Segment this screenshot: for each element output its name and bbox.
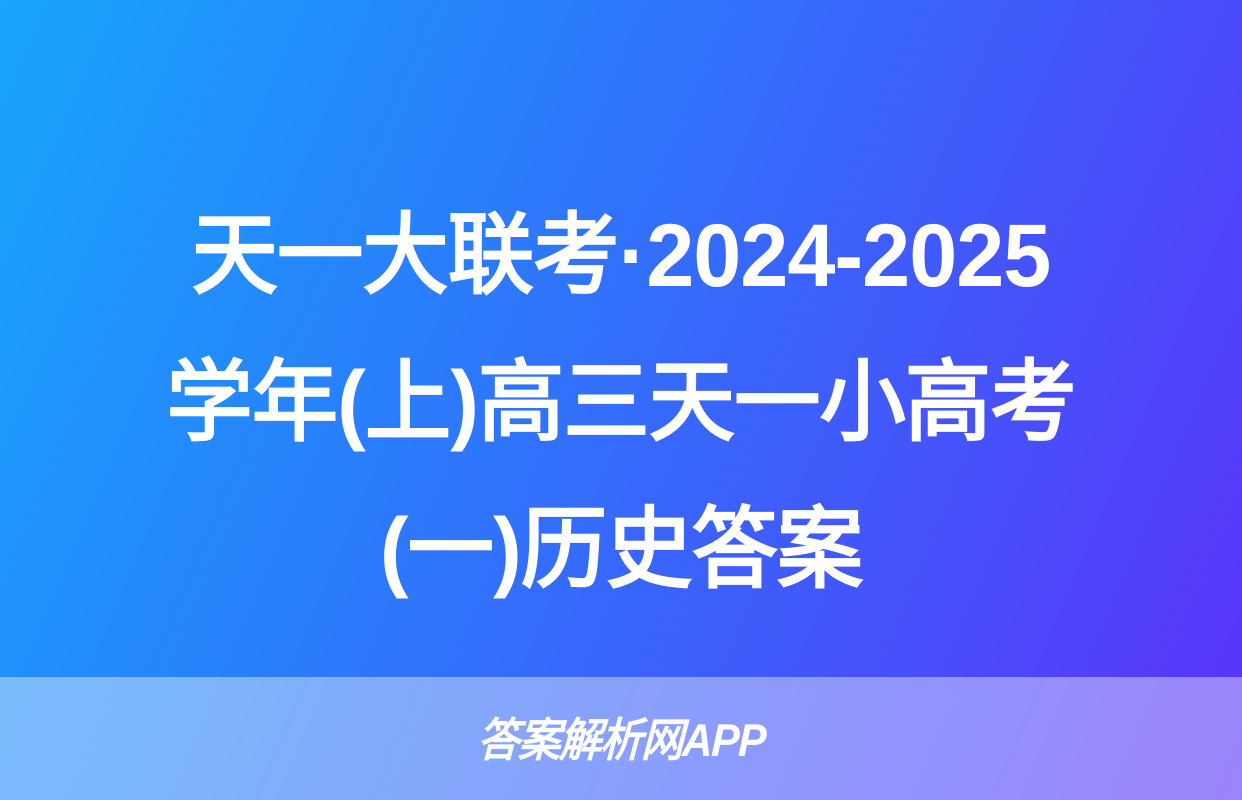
title-line-1: 天一大联考·2024-2025 <box>42 182 1200 329</box>
watermark-label: 答案解析网APP <box>476 717 765 763</box>
title-line-3: (一)历史答案 <box>42 476 1200 623</box>
title-line-2: 学年(上)高三天一小高考 <box>42 329 1200 476</box>
poster-canvas: 天一大联考·2024-2025 学年(上)高三天一小高考 (一)历史答案 答案解… <box>0 0 1242 800</box>
watermark-band: 答案解析网APP <box>0 677 1242 800</box>
page-title: 天一大联考·2024-2025 学年(上)高三天一小高考 (一)历史答案 <box>0 182 1242 623</box>
